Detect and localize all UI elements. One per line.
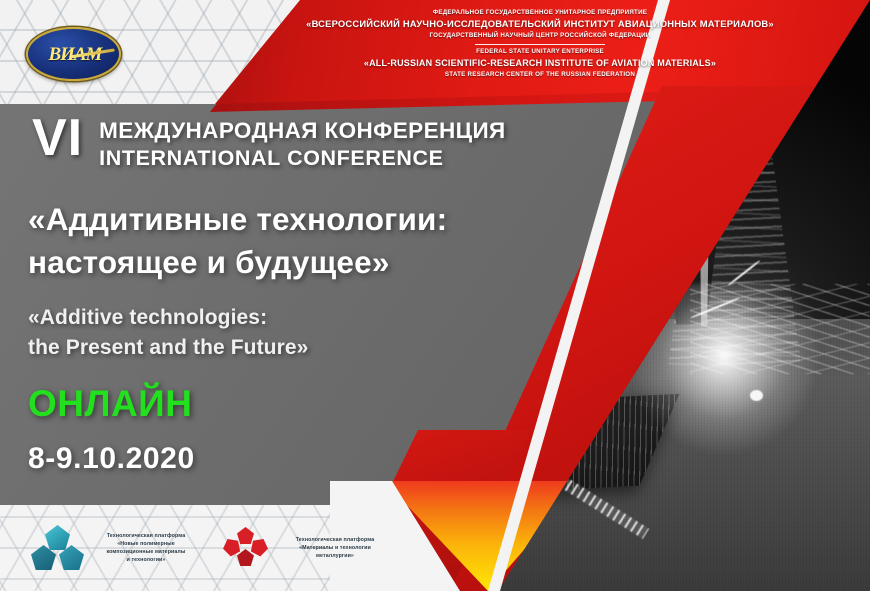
conference-poster: ВИАМ ФЕДЕРАЛЬНОЕ ГОСУДАРСТВЕННОЕ УНИТАРН… (0, 0, 870, 591)
partner-logo-polymer-composites: Технологическая платформа «Новые полимер… (30, 525, 201, 571)
partner-line2: «Новые полимерные (91, 540, 201, 548)
conference-label-ru: МЕЖДУНАРОДНАЯ КОНФЕРЕНЦИЯ (99, 118, 506, 145)
flower-petals (221, 527, 271, 569)
poster-title-ru-line2: настоящее и будущее» (28, 241, 447, 284)
pentagon-shape (45, 525, 70, 550)
institute-en-line3: STATE RESEARCH CENTER OF THE RUSSIAN FED… (445, 70, 635, 79)
conference-ordinal: VI (32, 115, 83, 163)
conference-heading: VI МЕЖДУНАРОДНАЯ КОНФЕРЕНЦИЯ INTERNATION… (32, 115, 506, 171)
partner-line3: композиционные материалы (91, 548, 201, 556)
partner-text-polymer-composites: Технологическая платформа «Новые полимер… (91, 532, 201, 565)
partner-logos: Технологическая платформа «Новые полимер… (0, 505, 470, 591)
partner-line3: металлургии» (280, 552, 390, 560)
partner-line4: и технологии» (91, 556, 201, 564)
red-flower-icon (219, 525, 273, 571)
event-format-badge: ОНЛАЙН (28, 385, 193, 422)
petal-shape (237, 527, 254, 544)
poster-title-en: «Additive technologies: the Present and … (28, 303, 308, 363)
poster-title-en-line2: the Present and the Future» (28, 333, 308, 363)
three-pentagons-icon (30, 525, 84, 571)
partner-logo-metallurgy: Технологическая платформа «Материалы и т… (219, 525, 390, 571)
partner-text-metallurgy: Технологическая платформа «Материалы и т… (280, 536, 390, 561)
institute-header: ФЕДЕРАЛЬНОЕ ГОСУДАРСТВЕННОЕ УНИТАРНОЕ ПР… (210, 6, 870, 102)
institute-en-line1: FEDERAL STATE UNITARY ENTERPRISE (476, 47, 604, 56)
partner-line1: Технологическая платформа (280, 536, 390, 544)
institute-ru-line1: ФЕДЕРАЛЬНОЕ ГОСУДАРСТВЕННОЕ УНИТАРНОЕ ПР… (433, 8, 647, 17)
partner-line2: «Материалы и технологии (280, 544, 390, 552)
partner-line1: Технологическая платформа (91, 532, 201, 540)
header-divider (475, 44, 605, 46)
poster-title-ru: «Аддитивные технологии: настоящее и буду… (28, 198, 447, 285)
viam-logo: ВИАМ (26, 27, 121, 81)
institute-ru-line3: ГОСУДАРСТВЕННЫЙ НАУЧНЫЙ ЦЕНТР РОССИЙСКОЙ… (429, 31, 650, 40)
poster-title-ru-line1: «Аддитивные технологии: (28, 198, 447, 241)
institute-ru-line2: «ВСЕРОССИЙСКИЙ НАУЧНО-ИССЛЕДОВАТЕЛЬСКИЙ … (306, 17, 774, 31)
poster-title-en-line1: «Additive technologies: (28, 303, 308, 333)
conference-label-en: INTERNATIONAL CONFERENCE (99, 145, 506, 171)
event-dates: 8-9.10.2020 (28, 444, 195, 474)
conference-labels: МЕЖДУНАРОДНАЯ КОНФЕРЕНЦИЯ INTERNATIONAL … (99, 115, 506, 171)
institute-en-line2: «ALL-RUSSIAN SCIENTIFIC-RESEARCH INSTITU… (364, 57, 716, 71)
